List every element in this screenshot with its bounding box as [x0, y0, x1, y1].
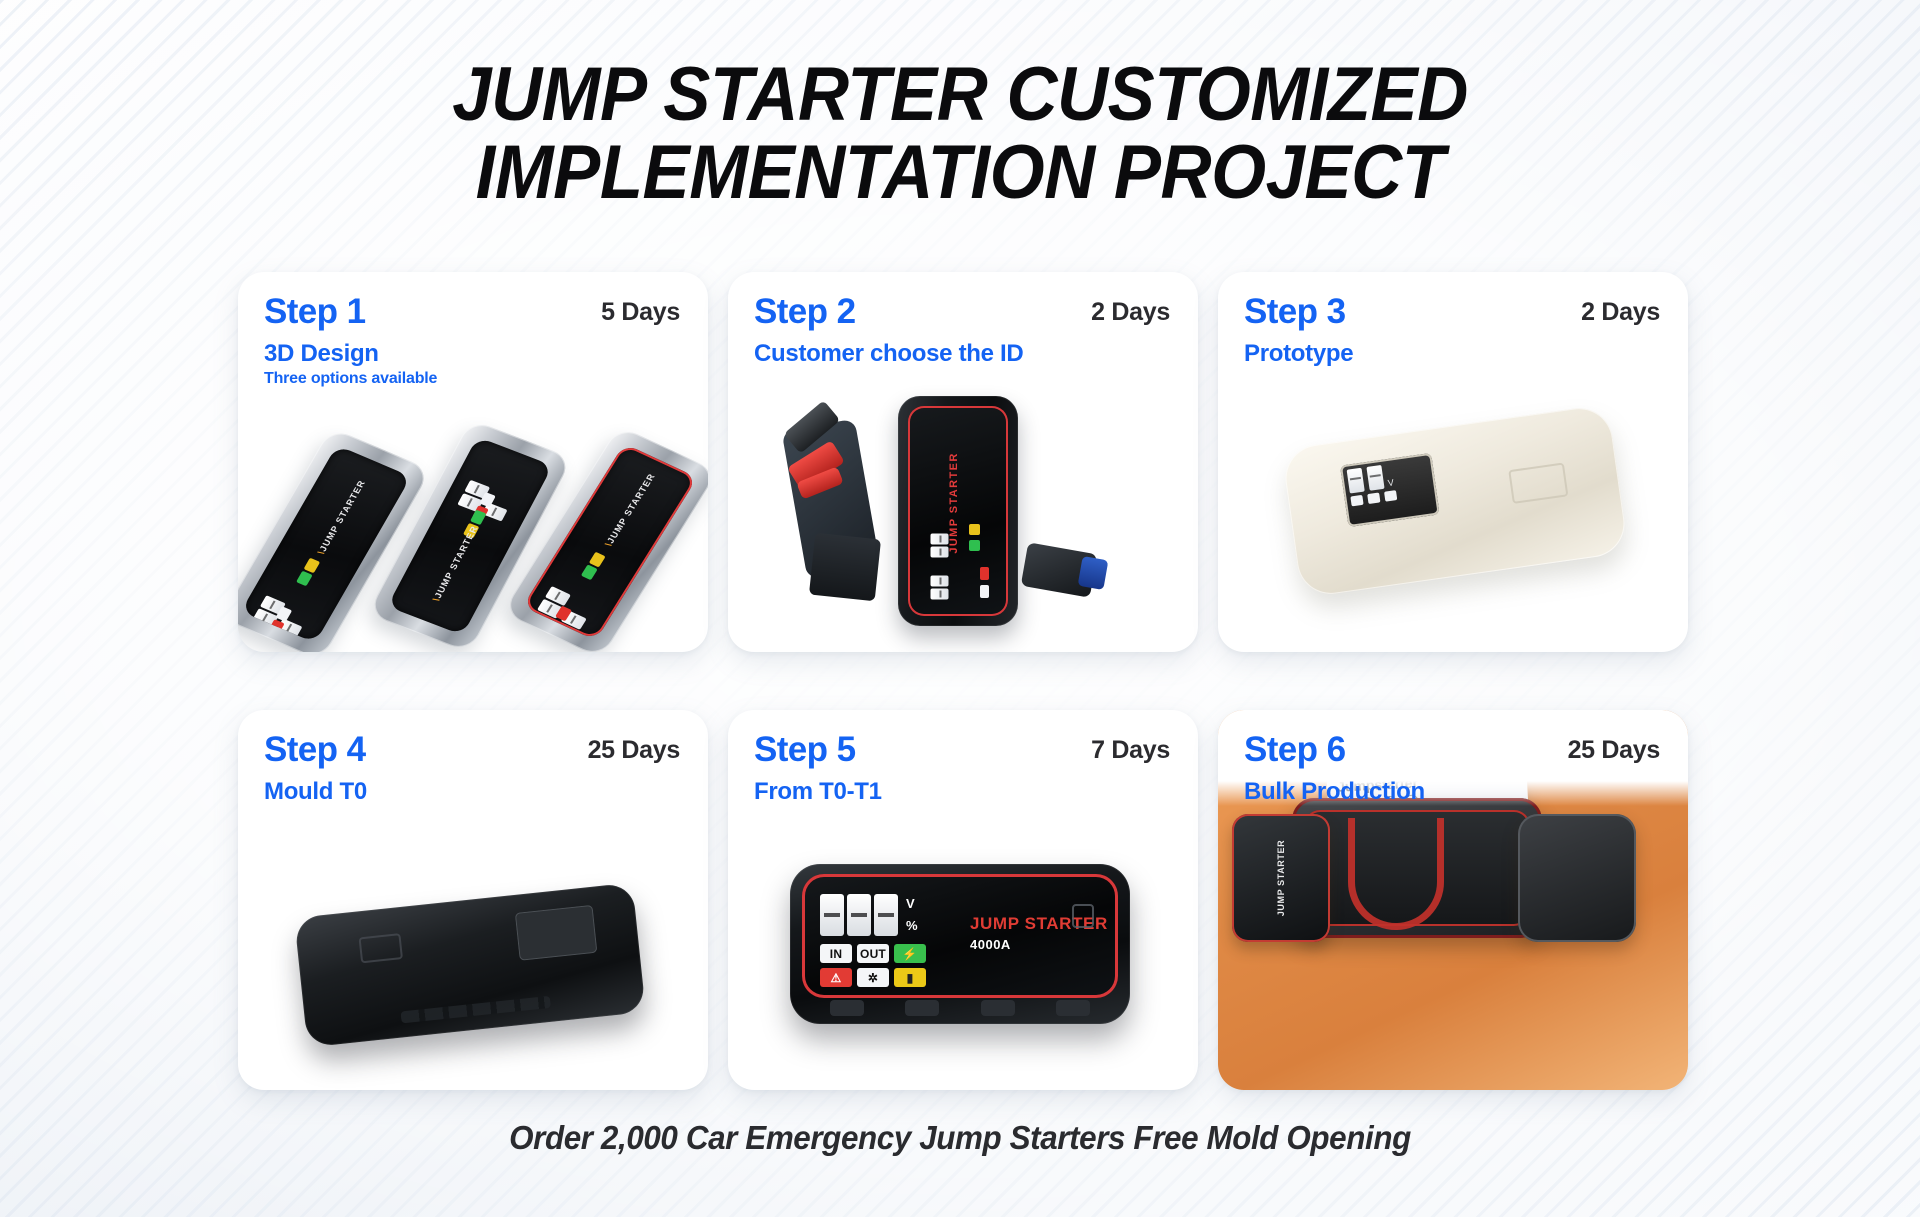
- step-label: Step 1: [264, 294, 365, 329]
- mould-display-recess: [515, 905, 598, 961]
- boost-icon: ⚡: [894, 944, 926, 963]
- mould-logo-emboss: [359, 933, 403, 963]
- step-label: Step 4: [264, 732, 365, 767]
- in-button[interactable]: IN: [820, 944, 852, 963]
- step-card-3[interactable]: Step 3 2 Days Prototype V: [1218, 272, 1688, 652]
- eva-case-lid: [1518, 814, 1636, 942]
- step-card-2-header: Step 2 2 Days Customer choose the ID: [728, 272, 1198, 368]
- step-card-4-header: Step 4 25 Days Mould T0: [238, 710, 708, 806]
- page-title-line-1: JUMP STARTER CUSTOMIZED: [452, 52, 1468, 137]
- mould-ribs: [400, 996, 550, 1024]
- step-label: Step 5: [754, 732, 855, 767]
- step-label: Step 6: [1244, 732, 1345, 767]
- step-subtitle: From T0-T1: [754, 779, 1172, 804]
- step-card-5[interactable]: Step 5 7 Days From T0-T1 V %: [728, 710, 1198, 1090]
- indicator-row-2: ⚠ ✲ ▮: [820, 968, 926, 987]
- lcd-volt-unit: V: [906, 896, 915, 911]
- indicator-row-1: IN OUT ⚡: [820, 944, 926, 963]
- footer-promo-text: Order 2,000 Car Emergency Jump Starters …: [48, 1119, 1872, 1157]
- jump-starter-unit: V % IN OUT ⚡ ⚠ ✲ ▮: [790, 864, 1130, 1024]
- step-1-media: \JUMP STARTER: [238, 368, 708, 652]
- page-title: JUMP STARTER CUSTOMIZED IMPLEMENTATION P…: [67, 56, 1853, 211]
- packed-jump-starter: JUMP STARTER: [1232, 814, 1330, 942]
- step-card-6-header: Step 6 25 Days Bulk Production: [1218, 710, 1688, 806]
- packed-red-cable: [1348, 818, 1444, 930]
- prototype-unit: V: [1281, 404, 1629, 598]
- step-subtitle: Mould T0: [264, 779, 682, 804]
- page-title-line-2: IMPLEMENTATION PROJECT: [67, 134, 1853, 212]
- prototype-logo-emboss: [1508, 462, 1568, 503]
- step-card-4[interactable]: Step 4 25 Days Mould T0: [238, 710, 708, 1090]
- step-label: Step 2: [754, 294, 855, 329]
- lcd-percent-unit: %: [906, 918, 918, 933]
- torch-icon: ▮: [894, 968, 926, 987]
- step-3-media: V: [1218, 368, 1688, 652]
- step-card-1[interactable]: Step 1 5 Days 3D Design Three options av…: [238, 272, 708, 652]
- jump-starter-unit: JUMP STARTER: [898, 396, 1018, 626]
- out-button[interactable]: OUT: [857, 944, 889, 963]
- step-card-6[interactable]: Jumpstarter JUMP STARTER Step 6 25 Days …: [1218, 710, 1688, 1090]
- step-4-media: [238, 806, 708, 1090]
- step-card-2[interactable]: Step 2 2 Days Customer choose the ID JUM…: [728, 272, 1198, 652]
- mould-t0-unit: [294, 883, 646, 1048]
- bottom-grill: [830, 1000, 1090, 1016]
- flashlight-icon: ✲: [857, 968, 889, 987]
- step-duration: 5 Days: [601, 298, 680, 327]
- step-5-media: V % IN OUT ⚡ ⚠ ✲ ▮: [728, 806, 1198, 1090]
- step-note: Three options available: [264, 370, 682, 388]
- infographic-stage: JUMP STARTER CUSTOMIZED IMPLEMENTATION P…: [0, 0, 1920, 1217]
- step-label: Step 3: [1244, 294, 1345, 329]
- lcd-display: V %: [820, 894, 901, 941]
- warning-icon: ⚠: [820, 968, 852, 987]
- packed-device-brand: JUMP STARTER: [1276, 840, 1286, 916]
- step-subtitle: Prototype: [1244, 341, 1662, 366]
- prototype-display-window: V: [1340, 453, 1440, 527]
- device-amperage-text: 4000A: [970, 937, 1108, 952]
- step-subtitle: Bulk Production: [1244, 779, 1662, 804]
- step-card-5-header: Step 5 7 Days From T0-T1: [728, 710, 1198, 806]
- steps-grid: Step 1 5 Days 3D Design Three options av…: [238, 272, 1688, 1090]
- step-subtitle: Customer choose the ID: [754, 341, 1172, 366]
- step-duration: 25 Days: [1568, 736, 1660, 765]
- step-duration: 2 Days: [1581, 298, 1660, 327]
- step-2-media: JUMP STARTER: [728, 368, 1198, 652]
- step-duration: 2 Days: [1091, 298, 1170, 327]
- step-card-1-header: Step 1 5 Days 3D Design Three options av…: [238, 272, 708, 368]
- step-subtitle: 3D Design: [264, 341, 682, 366]
- step-card-3-header: Step 3 2 Days Prototype: [1218, 272, 1688, 368]
- power-button[interactable]: [1072, 904, 1094, 928]
- step-duration: 25 Days: [588, 736, 680, 765]
- plug-pins: [1078, 556, 1109, 590]
- step-duration: 7 Days: [1091, 736, 1170, 765]
- clamp-cable: [809, 533, 881, 602]
